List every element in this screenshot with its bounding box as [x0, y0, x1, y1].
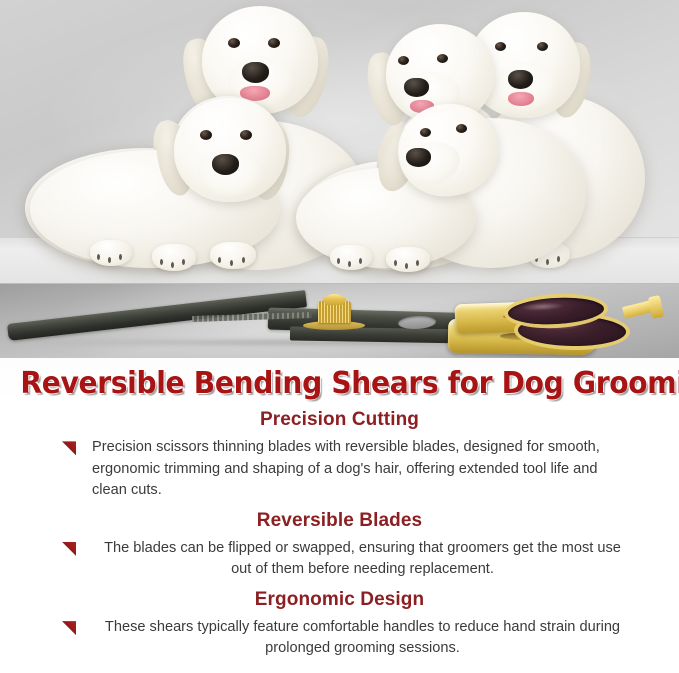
section-heading: Reversible Blades [0, 510, 679, 532]
page-title: Reversible Bending Shears for Dog Groomi… [20, 368, 658, 400]
triangle-bullet-icon [62, 621, 76, 635]
product-shears-photo [0, 283, 679, 358]
content-area: Reversible Bending Shears for Dog Groomi… [0, 368, 679, 663]
section-ergonomic-design: Ergonomic Design These shears typically … [0, 589, 679, 659]
bullet-row: These shears typically feature comfortab… [0, 617, 679, 659]
bullet-text: Precision scissors thinning blades with … [92, 437, 633, 500]
triangle-bullet-icon [62, 542, 76, 556]
bullet-row: The blades can be flipped or swapped, en… [0, 538, 679, 580]
section-heading: Ergonomic Design [0, 589, 679, 611]
bullet-text: These shears typically feature comfortab… [92, 617, 633, 659]
bullet-row: Precision scissors thinning blades with … [0, 437, 679, 500]
product-infographic-page: Reversible Bending Shears for Dog Groomi… [0, 0, 679, 673]
section-heading: Precision Cutting [0, 409, 679, 431]
triangle-bullet-icon [62, 441, 76, 455]
section-precision-cutting: Precision Cutting Precision scissors thi… [0, 409, 679, 500]
bullet-text: The blades can be flipped or swapped, en… [92, 538, 633, 580]
section-reversible-blades: Reversible Blades The blades can be flip… [0, 510, 679, 580]
hero-puppies-photo [0, 0, 679, 283]
